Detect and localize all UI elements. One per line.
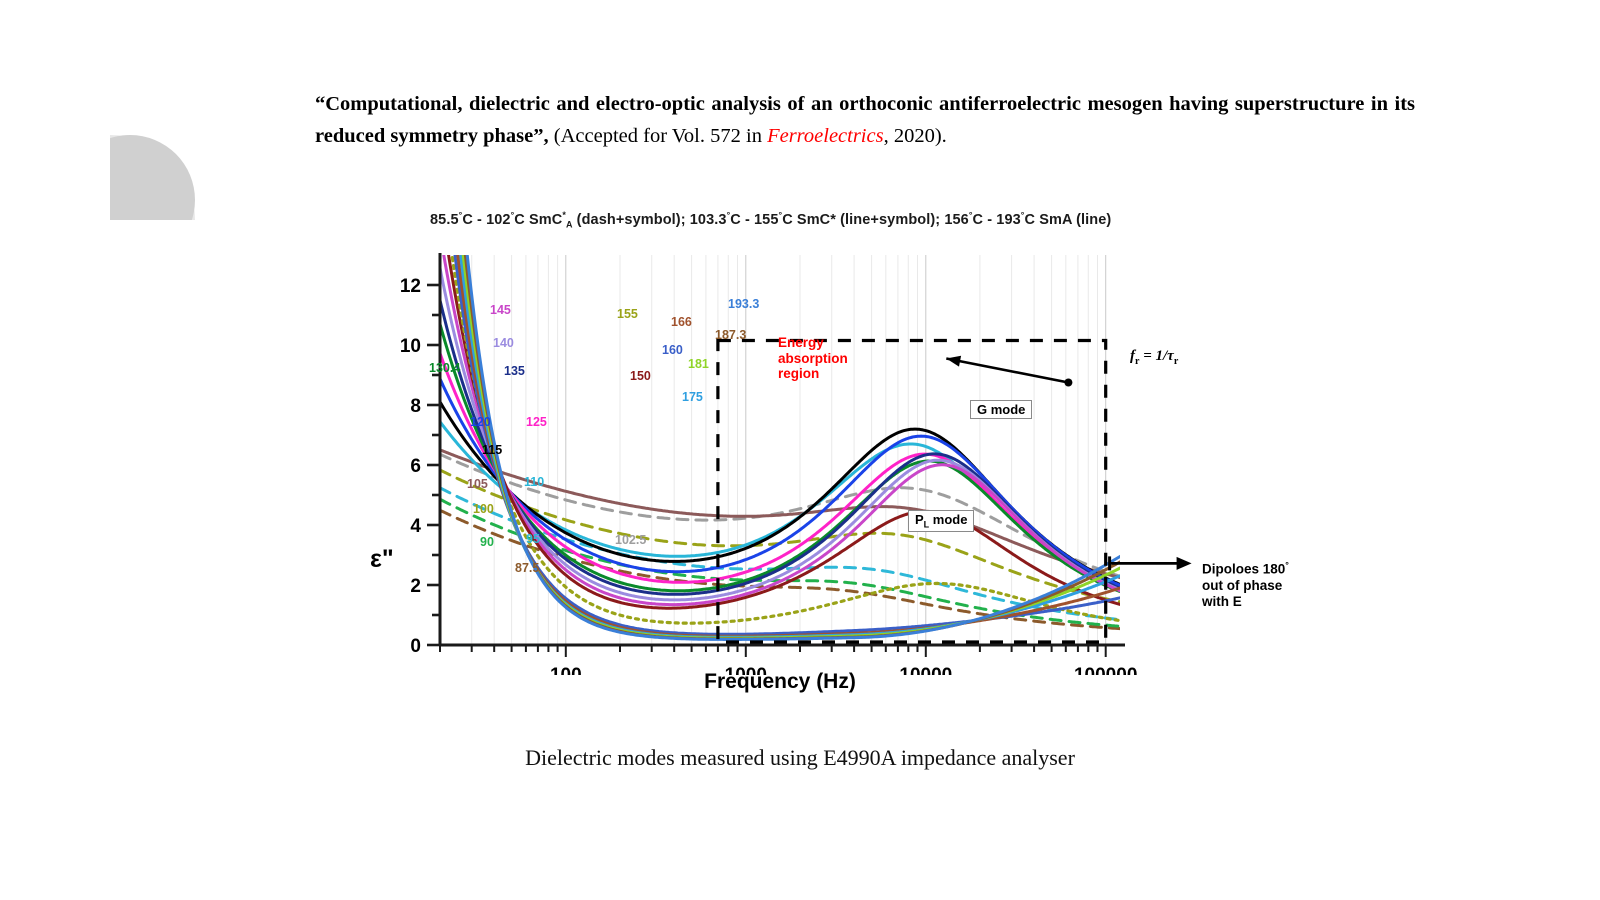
heading-quote-close: ”, xyxy=(533,125,548,147)
temp-label-193.3: 193.3 xyxy=(728,297,759,311)
temp-label-95: 95 xyxy=(526,532,540,546)
figure-container: 85.5°C - 102°C SmC*A (dash+symbol); 103.… xyxy=(330,205,1290,725)
svg-text:12: 12 xyxy=(400,276,421,297)
chart-title-p8: C SmA (line) xyxy=(1025,212,1112,228)
chart-title-p1: 85.5 xyxy=(430,212,459,228)
dipoles-line-2: out of phase xyxy=(1202,578,1289,594)
annotation-dipoles: Dipoloes 180° out of phase with E xyxy=(1202,557,1289,610)
temp-label-120: 120 xyxy=(470,415,491,429)
temp-label-155: 155 xyxy=(617,307,638,321)
temp-label-87.5: 87.5 xyxy=(515,561,539,575)
fr-sub2: r xyxy=(1174,356,1178,367)
temp-label-110: 110 xyxy=(524,475,544,489)
svg-text:0: 0 xyxy=(410,636,421,657)
svg-text:1000: 1000 xyxy=(725,665,767,675)
temp-label-175: 175 xyxy=(682,390,703,404)
svg-text:4: 4 xyxy=(410,516,421,537)
svg-text:100000: 100000 xyxy=(1074,665,1137,675)
temp-label-102.5: 102.5 xyxy=(615,533,646,547)
y-axis-ticks xyxy=(427,285,440,645)
dipoles-text-1: Dipoloes 180 xyxy=(1202,562,1285,577)
decorative-watermark xyxy=(110,135,195,220)
temp-label-105: 105 xyxy=(467,477,488,491)
chart-title-p6: C SmC* (line+symbol); 156 xyxy=(782,212,969,228)
dipoles-line-3: with E xyxy=(1202,594,1289,610)
star-sign: * xyxy=(562,210,566,220)
annotation-energy-absorption: Energy absorption region xyxy=(778,335,848,382)
temp-label-125: 125 xyxy=(526,415,547,429)
heading-journal: Ferroelectrics xyxy=(767,125,884,147)
energy-line-3: region xyxy=(778,366,848,382)
annotation-fr-relaxation: fr = 1/τr xyxy=(1130,348,1178,367)
fr-eq: = 1/τ xyxy=(1139,348,1173,364)
y-axis-tick-labels: 024681012 xyxy=(400,276,422,657)
svg-text:10: 10 xyxy=(400,336,421,357)
dipoles-line-1: Dipoloes 180° xyxy=(1202,557,1289,578)
heading-year: , 2020). xyxy=(884,125,947,147)
heading-quote-open: “ xyxy=(315,93,325,115)
chart-title-p5: C - 155 xyxy=(730,212,778,228)
annotation-g-mode: G mode xyxy=(970,400,1032,419)
x-axis-ticks xyxy=(440,645,1106,657)
svg-text:8: 8 xyxy=(410,396,421,417)
slide-heading: “Computational, dielectric and electro-o… xyxy=(315,88,1415,152)
temp-label-90: 90 xyxy=(480,535,494,549)
temp-label-130.4: 130.4 xyxy=(429,361,460,375)
chart-title: 85.5°C - 102°C SmC*A (dash+symbol); 103.… xyxy=(430,210,1230,230)
energy-line-1: Energy xyxy=(778,335,848,351)
watermark-arc-dark xyxy=(110,135,195,220)
temp-label-145: 145 xyxy=(490,303,511,317)
chart-title-p4: (dash+symbol); 103.3 xyxy=(573,212,727,228)
svg-text:2: 2 xyxy=(410,576,421,597)
temp-label-187.3: 187.3 xyxy=(715,328,746,342)
temp-label-150: 150 xyxy=(630,369,651,383)
temp-label-115: 115 xyxy=(482,443,502,457)
temp-label-166: 166 xyxy=(671,315,692,329)
temp-label-181: 181 xyxy=(688,357,709,371)
figure-caption: Dielectric modes measured using E4990A i… xyxy=(0,745,1600,771)
dipoles-arrow xyxy=(1110,556,1192,570)
svg-text:6: 6 xyxy=(410,456,421,477)
degree-sign: ° xyxy=(1285,560,1289,570)
svg-text:10000: 10000 xyxy=(899,665,952,675)
temp-label-140: 140 xyxy=(493,336,514,350)
heading-accepted: (Accepted for Vol. 572 in xyxy=(554,125,762,147)
pl-rest: mode xyxy=(929,512,967,527)
svg-text:100: 100 xyxy=(550,665,582,675)
chart-title-p3: C SmC xyxy=(514,212,562,228)
temp-label-100: 100 xyxy=(473,502,494,516)
pl-main: P xyxy=(915,512,924,527)
dielectric-spectrum-plot: 100100010000100000 024681012 xyxy=(330,245,1230,675)
chart-title-p7: C - 193 xyxy=(973,212,1021,228)
chart-title-p3sub: A xyxy=(566,220,573,230)
annotation-pl-mode: PL mode xyxy=(908,510,974,532)
temp-label-135: 135 xyxy=(504,364,525,378)
x-axis-tick-labels: 100100010000100000 xyxy=(550,665,1137,675)
energy-line-2: absorption xyxy=(778,351,848,367)
temp-label-160: 160 xyxy=(662,343,683,357)
chart-title-p2: C - 102 xyxy=(462,212,510,228)
